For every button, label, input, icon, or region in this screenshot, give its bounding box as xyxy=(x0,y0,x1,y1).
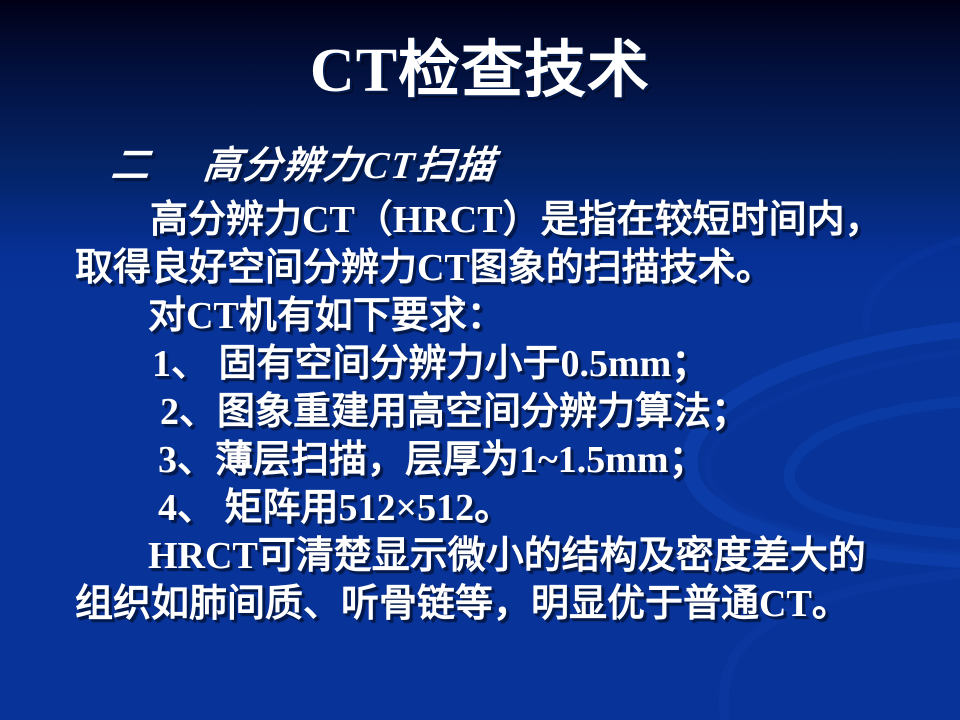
section-number: 二 xyxy=(109,145,153,187)
body-line: 3、薄层扫描，层厚为1~1.5mm； xyxy=(0,436,960,484)
body-line: 取得良好空间分辨力CT图象的扫描技术。 xyxy=(0,244,960,292)
body-line: HRCT可清楚显示微小的结构及密度差大的 xyxy=(0,532,960,580)
slide-subtitle: 二高分辨力CT扫描 xyxy=(109,134,499,189)
section-title: 高分辨力CT扫描 xyxy=(201,145,498,187)
body-line: 高分辨力CT（HRCT）是指在较短时间内， xyxy=(0,196,960,244)
body-line: 1、 固有空间分辨力小于0.5mm； xyxy=(0,340,960,388)
body-line: 4、 矩阵用512×512。 xyxy=(0,484,960,532)
body-line: 对CT机有如下要求： xyxy=(0,292,960,340)
body-line: 2、图象重建用高空间分辨力算法； xyxy=(0,388,960,436)
slide-body: 高分辨力CT（HRCT）是指在较短时间内， 取得良好空间分辨力CT图象的扫描技术… xyxy=(0,196,960,628)
body-line: 组织如肺间质、听骨链等，明显优于普通CT。 xyxy=(0,580,960,628)
presentation-slide: CT检查技术 二高分辨力CT扫描 高分辨力CT（HRCT）是指在较短时间内， 取… xyxy=(0,0,960,720)
slide-title: CT检查技术 xyxy=(0,40,960,102)
